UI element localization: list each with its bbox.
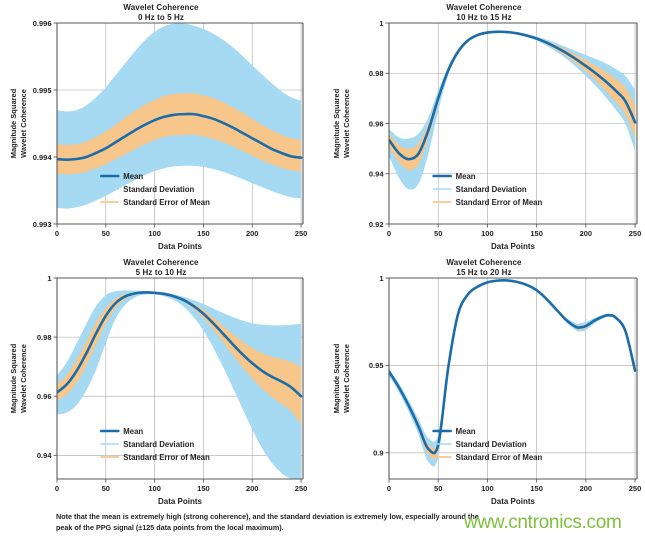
- figure-caption: Note that the mean is extremely high (st…: [56, 512, 486, 533]
- svg-text:Standard Error of Mean: Standard Error of Mean: [456, 198, 543, 207]
- svg-text:Mean: Mean: [456, 172, 476, 181]
- svg-text:250: 250: [629, 484, 642, 493]
- panel-title-main: Wavelet Coherence: [123, 258, 198, 267]
- svg-text:Standard Error of Mean: Standard Error of Mean: [456, 453, 543, 462]
- watermark-text: www.cntronics.com: [464, 512, 622, 533]
- svg-text:0.995: 0.995: [33, 86, 52, 95]
- svg-text:Wavelet Coherence: Wavelet Coherence: [19, 89, 28, 158]
- svg-text:150: 150: [197, 229, 210, 238]
- panel-title-15-20hz: Wavelet Coherence 15 Hz to 20 Hz: [323, 258, 645, 278]
- chart-svg-10-15hz: 0501001502002500.920.940.960.981Data Poi…: [323, 0, 645, 258]
- svg-text:150: 150: [530, 229, 543, 238]
- svg-text:Mean: Mean: [456, 427, 476, 436]
- svg-text:Data Points: Data Points: [491, 497, 536, 506]
- svg-text:0.98: 0.98: [369, 69, 384, 78]
- svg-text:100: 100: [148, 229, 161, 238]
- svg-text:Data Points: Data Points: [158, 242, 203, 251]
- chart-svg-0-5hz: 0501001502002500.9930.9940.9950.996Data …: [0, 0, 322, 258]
- svg-text:150: 150: [530, 484, 543, 493]
- panel-title-10-15hz: Wavelet Coherence 10 Hz to 15 Hz: [323, 3, 645, 23]
- svg-text:200: 200: [246, 484, 259, 493]
- chart-svg-5-10hz: 0501001502002500.940.960.981Data PointsM…: [0, 255, 322, 513]
- wavelet-coherence-figure: Wavelet Coherence 0 Hz to 5 Hz 050100150…: [0, 0, 645, 539]
- svg-text:0.95: 0.95: [369, 361, 384, 370]
- svg-text:250: 250: [295, 484, 308, 493]
- panel-title-0-5hz: Wavelet Coherence 0 Hz to 5 Hz: [0, 3, 322, 23]
- chart-panel-10-15hz: Wavelet Coherence 10 Hz to 15 Hz 0501001…: [323, 0, 645, 258]
- svg-text:Wavelet Coherence: Wavelet Coherence: [19, 344, 28, 413]
- panel-title-main: Wavelet Coherence: [446, 3, 521, 12]
- svg-text:Standard Deviation: Standard Deviation: [123, 185, 194, 194]
- svg-text:200: 200: [580, 229, 593, 238]
- svg-text:0: 0: [55, 229, 59, 238]
- svg-text:Standard Deviation: Standard Deviation: [456, 440, 527, 449]
- svg-text:0.994: 0.994: [33, 153, 53, 162]
- svg-text:250: 250: [629, 229, 642, 238]
- svg-text:0.96: 0.96: [369, 119, 384, 128]
- panel-title-sub: 0 Hz to 5 Hz: [0, 13, 322, 23]
- svg-text:Magnitude Squared: Magnitude Squared: [332, 343, 341, 413]
- svg-text:Magnitude Squared: Magnitude Squared: [9, 88, 18, 158]
- svg-text:Standard Deviation: Standard Deviation: [123, 440, 194, 449]
- watermark: www.cntronics.com: [464, 512, 622, 534]
- chart-panel-0-5hz: Wavelet Coherence 0 Hz to 5 Hz 050100150…: [0, 0, 322, 258]
- svg-text:Data Points: Data Points: [491, 242, 536, 251]
- svg-text:Standard Error of Mean: Standard Error of Mean: [123, 198, 210, 207]
- svg-text:50: 50: [102, 229, 110, 238]
- svg-text:0.94: 0.94: [369, 170, 384, 179]
- panel-title-sub: 5 Hz to 10 Hz: [0, 268, 322, 278]
- panel-title-sub: 10 Hz to 15 Hz: [323, 13, 645, 23]
- svg-text:200: 200: [580, 484, 593, 493]
- svg-text:0.993: 0.993: [33, 220, 52, 229]
- svg-text:Magnitude Squared: Magnitude Squared: [332, 88, 341, 158]
- svg-text:100: 100: [148, 484, 161, 493]
- svg-text:0: 0: [387, 484, 391, 493]
- svg-text:50: 50: [434, 484, 442, 493]
- svg-text:Mean: Mean: [123, 427, 143, 436]
- svg-text:0: 0: [55, 484, 59, 493]
- svg-text:0.92: 0.92: [369, 220, 384, 229]
- panel-title-main: Wavelet Coherence: [446, 258, 521, 267]
- chart-panel-15-20hz: Wavelet Coherence 15 Hz to 20 Hz 0501001…: [323, 255, 645, 513]
- svg-text:150: 150: [197, 484, 210, 493]
- svg-text:200: 200: [246, 229, 259, 238]
- svg-text:250: 250: [295, 229, 308, 238]
- svg-text:0.96: 0.96: [37, 392, 52, 401]
- svg-text:0: 0: [387, 229, 391, 238]
- svg-text:Magnitude Squared: Magnitude Squared: [9, 343, 18, 413]
- panel-title-main: Wavelet Coherence: [123, 3, 198, 12]
- svg-text:Mean: Mean: [123, 172, 143, 181]
- svg-text:100: 100: [481, 484, 494, 493]
- svg-text:Standard Error of Mean: Standard Error of Mean: [123, 453, 210, 462]
- chart-svg-15-20hz: 0501001502002500.90.951Data PointsMagnit…: [323, 255, 645, 513]
- svg-text:Data Points: Data Points: [158, 497, 203, 506]
- panel-title-5-10hz: Wavelet Coherence 5 Hz to 10 Hz: [0, 258, 322, 278]
- svg-text:Wavelet Coherence: Wavelet Coherence: [342, 89, 351, 158]
- chart-panel-5-10hz: Wavelet Coherence 5 Hz to 10 Hz 05010015…: [0, 255, 322, 513]
- svg-text:50: 50: [102, 484, 110, 493]
- panel-title-sub: 15 Hz to 20 Hz: [323, 268, 645, 278]
- svg-text:0.98: 0.98: [37, 333, 52, 342]
- svg-text:50: 50: [434, 229, 442, 238]
- svg-text:Wavelet Coherence: Wavelet Coherence: [342, 344, 351, 413]
- svg-text:0.9: 0.9: [373, 449, 383, 458]
- svg-text:100: 100: [481, 229, 494, 238]
- svg-text:Standard Deviation: Standard Deviation: [456, 185, 527, 194]
- svg-text:0.94: 0.94: [37, 451, 52, 460]
